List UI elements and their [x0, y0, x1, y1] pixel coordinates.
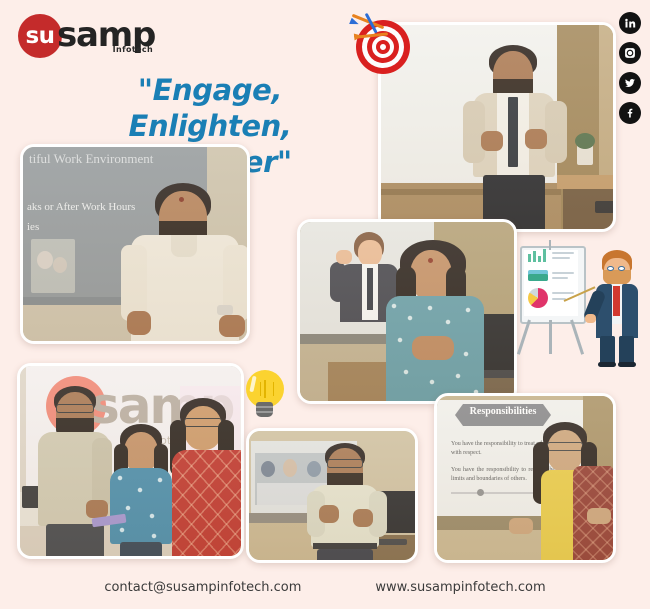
photo-man-glasses-presenting [246, 428, 418, 563]
logo-wordmark-wrap: samp Infotech [57, 14, 155, 53]
facebook-icon[interactable] [619, 102, 641, 124]
photo-team-award-group: samp Infotech [17, 363, 244, 559]
photo-man-polo-presenting: tiful Work Environment aks or After Work… [20, 144, 250, 344]
footer-email[interactable]: contact@susampinfotech.com [104, 580, 301, 595]
photo-woman-yellow-responsibilities: Responsibilities You have the responsibi… [434, 393, 616, 563]
brand-logo: su samp Infotech [18, 14, 155, 58]
target-icon [352, 12, 414, 74]
footer-website[interactable]: www.susampinfotech.com [375, 580, 545, 595]
logo-subtext: Infotech [113, 45, 154, 54]
photo-woman-teal-kurta-presenting [297, 219, 517, 404]
footer-contact-bar: contact@susampinfotech.com www.susampinf… [0, 580, 650, 595]
poster-canvas: su samp Infotech "Engage, Enlighten, Emp… [0, 0, 650, 609]
presenter-illustration [516, 240, 644, 366]
linkedin-icon[interactable] [619, 12, 641, 34]
logo-badge-su: su [18, 14, 62, 58]
light-bulb-icon [240, 368, 290, 420]
social-icon-bar [619, 12, 641, 124]
twitter-icon[interactable] [619, 72, 641, 94]
instagram-icon[interactable] [619, 42, 641, 64]
